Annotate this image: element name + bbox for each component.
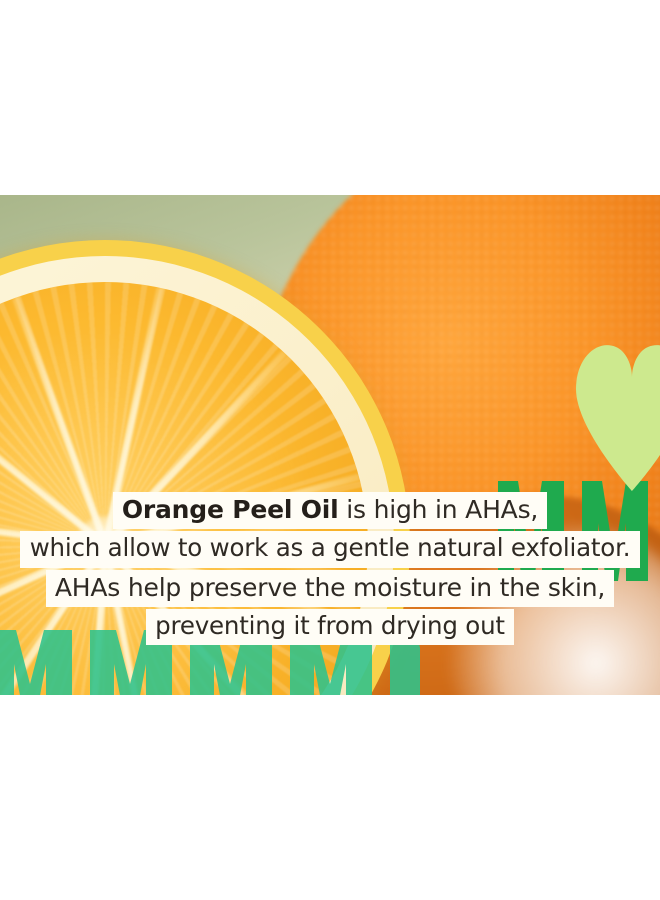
caption-block: Orange Peel Oil is high in AHAs, which a… xyxy=(0,492,660,647)
caption-line-1-rest: is high in AHAs, xyxy=(339,495,539,524)
caption-line-4: preventing it from drying out xyxy=(0,609,660,646)
caption-line-3: AHAs help preserve the moisture in the s… xyxy=(0,570,660,607)
caption-line-2-box: which allow to work as a gentle natural … xyxy=(20,531,641,568)
ingredient-name: Orange Peel Oil xyxy=(122,495,339,524)
heart-icon xyxy=(572,333,660,493)
caption-line-4-box: preventing it from drying out xyxy=(146,609,514,646)
caption-line-2: which allow to work as a gentle natural … xyxy=(0,531,660,568)
infographic-canvas: Orange Peel Oil is high in AHAs, which a… xyxy=(0,0,660,900)
caption-line-1-box: Orange Peel Oil is high in AHAs, xyxy=(113,492,547,529)
caption-line-1: Orange Peel Oil is high in AHAs, xyxy=(0,492,660,529)
caption-line-3-box: AHAs help preserve the moisture in the s… xyxy=(46,570,614,607)
